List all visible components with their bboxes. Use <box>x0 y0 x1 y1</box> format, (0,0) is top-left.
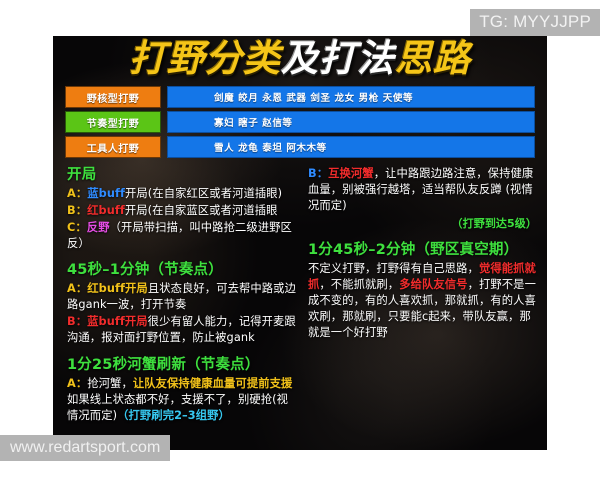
section-body: B：互换河蟹，让中路跟边路注意，保持健康血量，别被强行越塔，适当帮队友反蹲 (视… <box>308 166 537 214</box>
body-line: 不定义打野，打野得有自己思路，觉得能抓就抓，不能抓就刷，多给队友信号，打野不是一… <box>308 261 537 341</box>
section-body: A：蓝buff开局(在自家红区或者河道插眼)B：红buff开局(在自家蓝区或者河… <box>67 186 296 252</box>
poster-page: TG: MYYJJPP 打野分类及打法思路 野核型打野 剑魔 皎月 永恩 武器 … <box>0 0 600 480</box>
left-column: 开局 A：蓝buff开局(在自家红区或者河道插眼)B：红buff开局(在自家蓝区… <box>67 166 302 441</box>
text-run: B： <box>308 167 328 180</box>
page-title: 打野分类及打法思路 <box>53 40 547 79</box>
category-tag: 节奏型打野 <box>65 111 161 133</box>
section-body: 不定义打野，打野得有自己思路，觉得能抓就抓，不能抓就刷，多给队友信号，打野不是一… <box>308 261 537 341</box>
site-watermark: www.redartsport.com <box>0 435 170 461</box>
section-body: A：抢河蟹，让队友保持健康血量可提前支援如果线上状态都不好，支援不了，别硬抢(视… <box>67 376 296 424</box>
body-line: B：互换河蟹，让中路跟边路注意，保持健康血量，别被强行越塔，适当帮队友反蹲 (视… <box>308 166 537 214</box>
poster-panel: 打野分类及打法思路 野核型打野 剑魔 皎月 永恩 武器 剑圣 龙女 男枪 天使等… <box>53 36 547 450</box>
body-line: A：抢河蟹，让队友保持健康血量可提前支援如果线上状态都不好，支援不了，别硬抢(视… <box>67 376 296 424</box>
category-table: 野核型打野 剑魔 皎月 永恩 武器 剑圣 龙女 男枪 天使等 节奏型打野 寡妇 … <box>65 86 535 161</box>
telegram-watermark: TG: MYYJJPP <box>470 9 600 36</box>
text-run: 红buff开局 <box>87 282 148 295</box>
section-note: （打野到达5级） <box>308 216 537 232</box>
text-run: 红buff <box>87 204 125 217</box>
body-line: A：蓝buff开局(在自家红区或者河道插眼) <box>67 186 296 202</box>
text-run: 抢河蟹， <box>87 377 133 390</box>
text-run: 开局(在自家蓝区或者河道插眼 <box>125 204 278 217</box>
page-title-part-1: 打野分类 <box>129 37 281 80</box>
section-heading: 45秒–1分钟（节奏点） <box>67 261 296 279</box>
category-champions: 雪人 龙龟 泰坦 阿木木等 <box>167 136 535 158</box>
text-run: A： <box>67 187 87 200</box>
text-run: B： <box>67 204 87 217</box>
text-run: 蓝buff开局 <box>87 315 148 328</box>
text-run: 开局(在自家红区或者河道插眼) <box>125 187 282 200</box>
right-column: B：互换河蟹，让中路跟边路注意，保持健康血量，别被强行越塔，适当帮队友反蹲 (视… <box>302 166 537 441</box>
section-block: 45秒–1分钟（节奏点） A：红buff开局且状态良好，可去帮中路或边路gank… <box>67 261 296 346</box>
text-run: 蓝buff <box>87 187 125 200</box>
text-run: ，不能抓就刷， <box>319 278 399 291</box>
section-block: 开局 A：蓝buff开局(在自家红区或者河道插眼)B：红buff开局(在自家蓝区… <box>67 166 296 252</box>
page-title-part-2: 及打法 <box>281 37 395 80</box>
text-run: （打野刷完2–3组野） <box>117 409 230 422</box>
section-heading: 1分45秒–2分钟（野区真空期） <box>308 241 537 259</box>
section-heading: 1分25秒河蟹刷新（节奏点） <box>67 356 296 374</box>
section-block: 1分25秒河蟹刷新（节奏点） A：抢河蟹，让队友保持健康血量可提前支援如果线上状… <box>67 356 296 424</box>
category-champions: 剑魔 皎月 永恩 武器 剑圣 龙女 男枪 天使等 <box>167 86 535 108</box>
table-row: 工具人打野 雪人 龙龟 泰坦 阿木木等 <box>65 136 535 158</box>
section-block: B：互换河蟹，让中路跟边路注意，保持健康血量，别被强行越塔，适当帮队友反蹲 (视… <box>308 166 537 232</box>
section-body: A：红buff开局且状态良好，可去帮中路或边路gank一波，打开节奏B：蓝buf… <box>67 281 296 346</box>
body-line: A：红buff开局且状态良好，可去帮中路或边路gank一波，打开节奏 <box>67 281 296 313</box>
text-run: 多给队友信号 <box>399 278 467 291</box>
table-row: 野核型打野 剑魔 皎月 永恩 武器 剑圣 龙女 男枪 天使等 <box>65 86 535 108</box>
category-tag: 野核型打野 <box>65 86 161 108</box>
page-title-part-3: 思路 <box>395 37 471 80</box>
category-tag: 工具人打野 <box>65 136 161 158</box>
body-line: B：蓝buff开局很少有留人能力，记得开麦跟沟通，报对面打野位置，防止被gank <box>67 314 296 346</box>
body-line: C：反野（开局带扫描，叫中路抢二级进野区反） <box>67 220 296 252</box>
text-run: A： <box>67 377 87 390</box>
content-columns: 开局 A：蓝buff开局(在自家红区或者河道插眼)B：红buff开局(在自家蓝区… <box>67 166 537 441</box>
text-run: 反野 <box>87 221 110 234</box>
category-champions: 寡妇 瞎子 赵信等 <box>167 111 535 133</box>
section-heading: 开局 <box>67 166 296 184</box>
text-run: C： <box>67 221 87 234</box>
text-run: 不定义打野，打野得有自己思路， <box>308 262 479 275</box>
text-run: 互换河蟹 <box>328 167 374 180</box>
text-run: 让队友保持健康血量可 <box>133 377 247 390</box>
table-row: 节奏型打野 寡妇 瞎子 赵信等 <box>65 111 535 133</box>
text-run: B： <box>67 315 87 328</box>
section-block: 1分45秒–2分钟（野区真空期） 不定义打野，打野得有自己思路，觉得能抓就抓，不… <box>308 241 537 341</box>
text-run: 提前支援 <box>247 377 293 390</box>
text-run: A： <box>67 282 87 295</box>
body-line: B：红buff开局(在自家蓝区或者河道插眼 <box>67 203 296 219</box>
